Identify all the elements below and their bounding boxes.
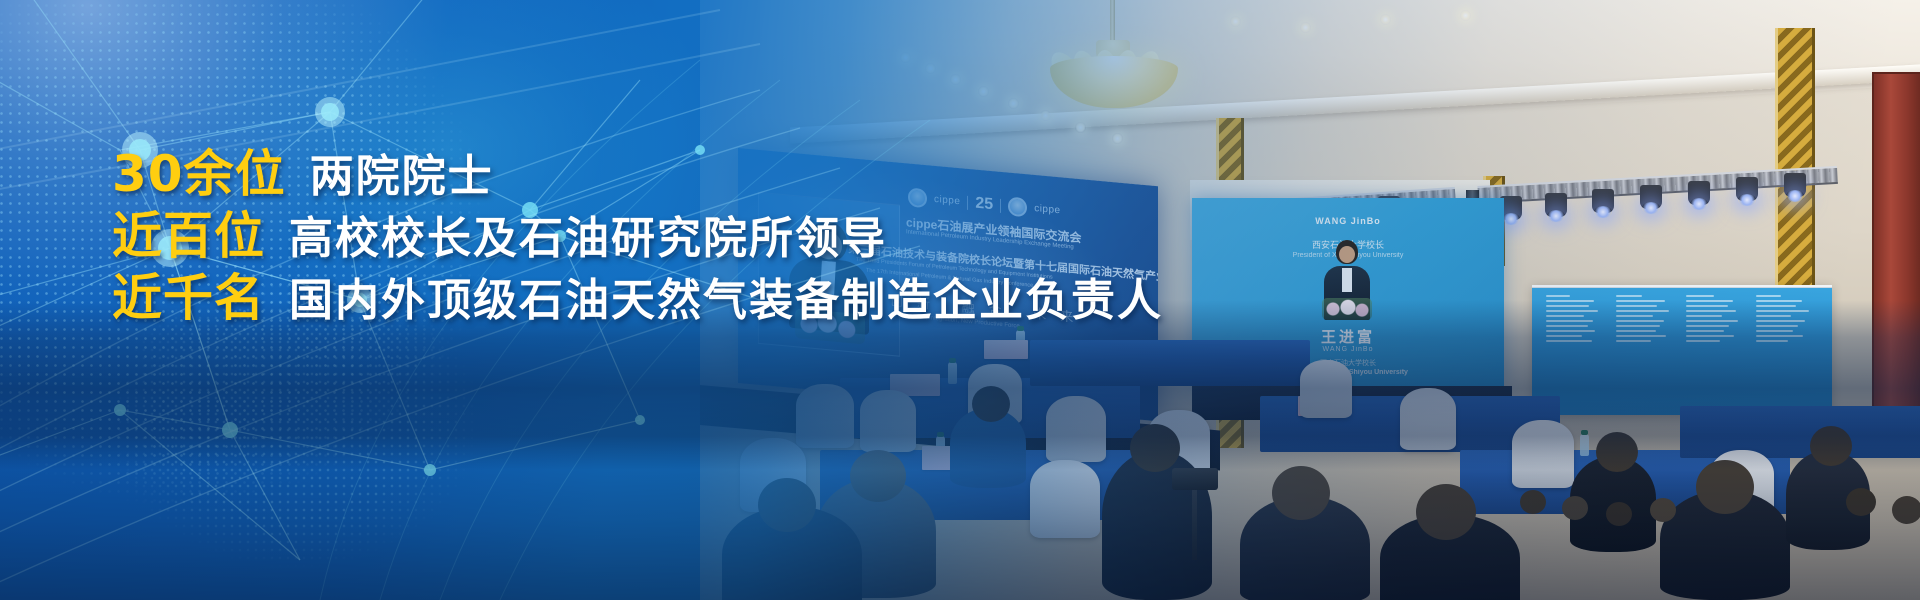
bottom-vignette (0, 400, 1920, 600)
conference-promo-banner: cippe 25 (0, 0, 1920, 600)
stat-label-2: 高校校长及石油研究院所领导 (289, 214, 887, 263)
headline-row: 30余位 两院院士 (112, 146, 1163, 202)
stat-label-1: 两院院士 (310, 152, 494, 201)
stat-count-1: 30余位 (112, 146, 286, 202)
headline-stats: 30余位 两院院士 近百位 高校校长及石油研究院所领导 近千名 国内外顶级石油天… (112, 146, 1163, 332)
stat-label-3: 国内外顶级石油天然气装备制造企业负责人 (289, 276, 1163, 325)
headline-row: 近千名 国内外顶级石油天然气装备制造企业负责人 (112, 270, 1163, 326)
stat-count-2: 近百位 (112, 208, 265, 264)
headline-row: 近百位 高校校长及石油研究院所领导 (112, 208, 1163, 264)
stat-count-3: 近千名 (112, 270, 265, 326)
